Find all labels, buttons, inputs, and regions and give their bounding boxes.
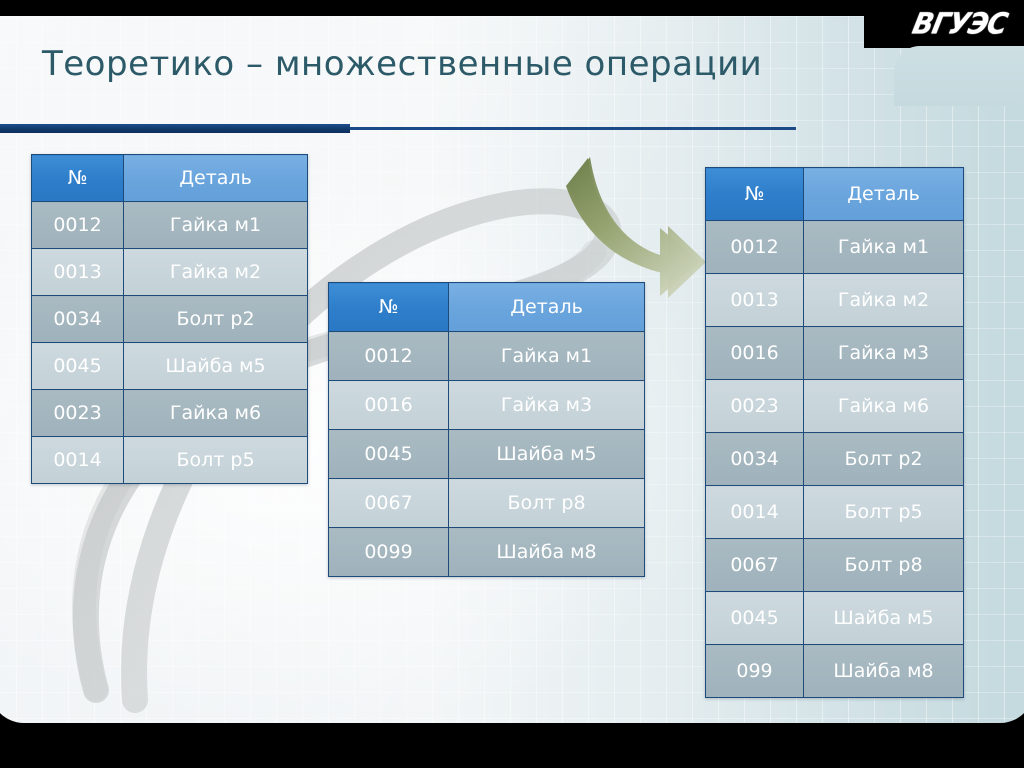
table-left: № Деталь 0012 Гайка м1 0013 Гайка м2 003… (31, 154, 308, 484)
title-rule-thick (0, 124, 350, 133)
cell-part: Болт р8 (804, 539, 964, 592)
column-header-number: № (706, 168, 804, 221)
cell-part: Шайба м5 (449, 430, 645, 479)
cell-part: Гайка м2 (804, 274, 964, 327)
cell-number: 0067 (706, 539, 804, 592)
cell-number: 0023 (706, 380, 804, 433)
table-row: 0012 Гайка м1 (32, 202, 308, 249)
cell-number: 0014 (32, 437, 124, 484)
cell-part: Гайка м1 (449, 332, 645, 381)
column-header-part: Деталь (124, 155, 308, 202)
cell-part: Болт р8 (449, 479, 645, 528)
table-middle-body: 0012 Гайка м1 0016 Гайка м3 0045 Шайба м… (329, 332, 645, 577)
cell-part: Гайка м1 (124, 202, 308, 249)
table-row: 0016 Гайка м3 (329, 381, 645, 430)
table-right-body: 0012 Гайка м1 0013 Гайка м2 0016 Гайка м… (706, 221, 964, 698)
table-row: 0016 Гайка м3 (706, 327, 964, 380)
table-left-body: 0012 Гайка м1 0013 Гайка м2 0034 Болт р2… (32, 202, 308, 484)
cell-number: 0012 (32, 202, 124, 249)
cell-number: 0023 (32, 390, 124, 437)
cell-part: Шайба м5 (804, 592, 964, 645)
table-row: 0045 Шайба м5 (32, 343, 308, 390)
cell-number: 0099 (329, 528, 449, 577)
table-row: 0013 Гайка м2 (706, 274, 964, 327)
table-row: 0012 Гайка м1 (329, 332, 645, 381)
page-title: Теоретико – множественные операции (42, 44, 762, 84)
column-header-part: Деталь (449, 283, 645, 332)
table-row: 099 Шайба м8 (706, 645, 964, 698)
cell-number: 0045 (32, 343, 124, 390)
table-header-row: № Деталь (329, 283, 645, 332)
cell-number: 0013 (706, 274, 804, 327)
table-row: 0034 Болт р2 (706, 433, 964, 486)
cell-number: 0045 (706, 592, 804, 645)
cell-part: Гайка м1 (804, 221, 964, 274)
table-row: 0014 Болт р5 (706, 486, 964, 539)
cell-part: Гайка м3 (804, 327, 964, 380)
table-middle: № Деталь 0012 Гайка м1 0016 Гайка м3 004… (328, 282, 645, 577)
cell-part: Гайка м3 (449, 381, 645, 430)
title-rule-thin (350, 127, 796, 130)
cell-number: 0034 (706, 433, 804, 486)
table-row: 0023 Гайка м6 (706, 380, 964, 433)
table-row: 0014 Болт р5 (32, 437, 308, 484)
column-header-part: Деталь (804, 168, 964, 221)
cell-part: Болт р5 (804, 486, 964, 539)
table-header-row: № Деталь (32, 155, 308, 202)
presentation-slide: ВГУЭС Теоретико – множественные операции… (0, 0, 1024, 768)
cell-number: 0013 (32, 249, 124, 296)
cell-part: Гайка м2 (124, 249, 308, 296)
table-row: 0013 Гайка м2 (32, 249, 308, 296)
cell-part: Болт р5 (124, 437, 308, 484)
cell-number: 0016 (329, 381, 449, 430)
table-right-result: № Деталь 0012 Гайка м1 0013 Гайка м2 001… (705, 167, 964, 698)
table-row: 0067 Болт р8 (706, 539, 964, 592)
cell-number: 0045 (329, 430, 449, 479)
table-row: 0045 Шайба м5 (329, 430, 645, 479)
cell-number: 0012 (706, 221, 804, 274)
table-row: 0067 Болт р8 (329, 479, 645, 528)
top-right-panel-corner (894, 46, 1024, 106)
cell-part: Болт р2 (124, 296, 308, 343)
table-row: 0023 Гайка м6 (32, 390, 308, 437)
column-header-number: № (32, 155, 124, 202)
table-row: 0034 Болт р2 (32, 296, 308, 343)
bottom-black-band (0, 723, 1024, 768)
cell-part: Шайба м8 (804, 645, 964, 698)
cell-number: 0034 (32, 296, 124, 343)
cell-number: 0016 (706, 327, 804, 380)
cell-number: 0012 (329, 332, 449, 381)
cell-part: Гайка м6 (124, 390, 308, 437)
table-row: 0045 Шайба м5 (706, 592, 964, 645)
cell-part: Шайба м5 (124, 343, 308, 390)
cell-part: Гайка м6 (804, 380, 964, 433)
cell-number: 0014 (706, 486, 804, 539)
cell-number: 099 (706, 645, 804, 698)
column-header-number: № (329, 283, 449, 332)
vgues-logo: ВГУЭС (909, 8, 1009, 41)
cell-part: Болт р2 (804, 433, 964, 486)
table-header-row: № Деталь (706, 168, 964, 221)
cell-part: Шайба м8 (449, 528, 645, 577)
table-row: 0012 Гайка м1 (706, 221, 964, 274)
table-row: 0099 Шайба м8 (329, 528, 645, 577)
cell-number: 0067 (329, 479, 449, 528)
